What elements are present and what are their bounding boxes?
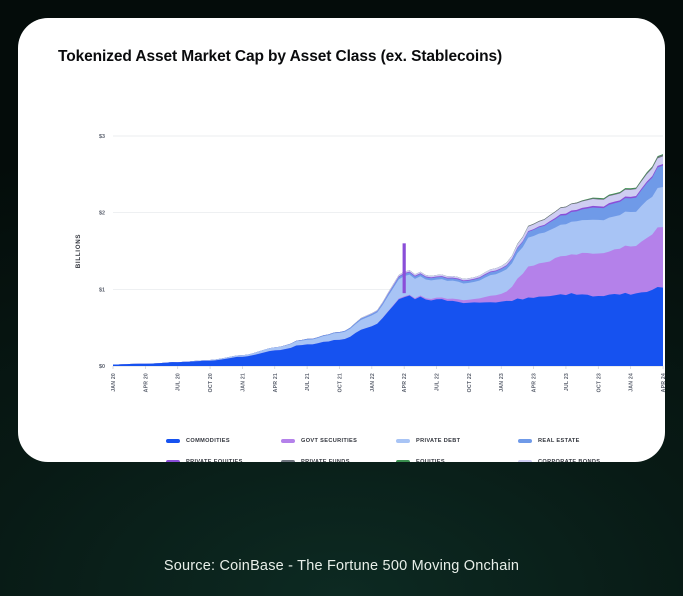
legend-item-private-debt[interactable]: PRIVATE DEBT [396,438,518,444]
x-axis-tick-label: APR 20 [143,373,149,392]
legend-swatch-icon [166,439,180,443]
legend-label: PRIVATE DEBT [416,438,460,444]
y-axis-tick-label: $0 [99,364,105,370]
x-axis-tick-label: JUL 20 [176,373,182,391]
y-axis-label: BILLIONS [75,234,82,268]
x-axis-tick-label: JAN 20 [111,373,117,392]
x-axis-tick-label: APR 24 [661,373,665,392]
x-axis-tick-label: JAN 23 [499,373,505,392]
y-axis-tick-label: $3 [99,134,105,140]
legend-item-corporate-bonds[interactable]: CORPORATE BONDS [518,459,636,463]
legend-label: CORPORATE BONDS [538,459,600,463]
x-axis-tick-label: OCT 20 [208,373,214,392]
x-axis-tick-label: OCT 21 [337,373,343,392]
page-title: Tokenized Asset Market Cap by Asset Clas… [58,48,502,66]
x-axis-tick-label: APR 22 [402,373,408,392]
chart-plot-area: $0$1$2$3BILLIONSJAN 20APR 20JUL 20OCT 20… [18,96,665,416]
legend-swatch-icon [396,439,410,443]
legend-item-private-equities[interactable]: PRIVATE EQUITIES [166,459,281,463]
chart-legend: COMMODITIESGOVT SECURITIESPRIVATE DEBTRE… [166,430,636,462]
x-axis-tick-label: JAN 24 [629,373,635,392]
x-axis-tick-label: JAN 21 [240,373,246,392]
legend-swatch-icon [281,439,295,443]
x-axis-tick-label: JUL 21 [305,373,311,391]
legend-swatch-icon [518,460,532,463]
source-caption: Source: CoinBase - The Fortune 500 Movin… [0,558,683,574]
legend-label: GOVT SECURITIES [301,438,357,444]
legend-item-private-funds[interactable]: PRIVATE FUNDS [281,459,396,463]
legend-swatch-icon [281,460,295,463]
legend-label: EQUITIES [416,459,445,463]
x-axis-tick-label: APR 21 [273,373,279,392]
y-axis-tick-label: $1 [99,287,105,293]
legend-label: PRIVATE EQUITIES [186,459,243,463]
legend-item-equities[interactable]: EQUITIES [396,459,518,463]
legend-label: COMMODITIES [186,438,230,444]
legend-item-real-estate[interactable]: REAL ESTATE [518,438,636,444]
x-axis-tick-label: APR 23 [532,373,538,392]
x-axis-tick-label: OCT 23 [596,373,602,392]
x-axis-tick-label: JAN 22 [370,373,376,392]
x-axis-tick-label: OCT 22 [467,373,473,392]
legend-swatch-icon [396,460,410,463]
stacked-area-chart: $0$1$2$3BILLIONSJAN 20APR 20JUL 20OCT 20… [18,96,665,416]
legend-item-govt-securities[interactable]: GOVT SECURITIES [281,438,396,444]
legend-item-commodities[interactable]: COMMODITIES [166,438,281,444]
legend-label: PRIVATE FUNDS [301,459,350,463]
x-axis-tick-label: JUL 22 [435,373,441,391]
y-axis-tick-label: $2 [99,211,105,217]
legend-label: REAL ESTATE [538,438,580,444]
chart-card: Tokenized Asset Market Cap by Asset Clas… [18,18,665,462]
legend-swatch-icon [518,439,532,443]
x-axis-tick-label: JUL 23 [564,373,570,391]
spike-annotation [403,243,406,293]
legend-swatch-icon [166,460,180,463]
